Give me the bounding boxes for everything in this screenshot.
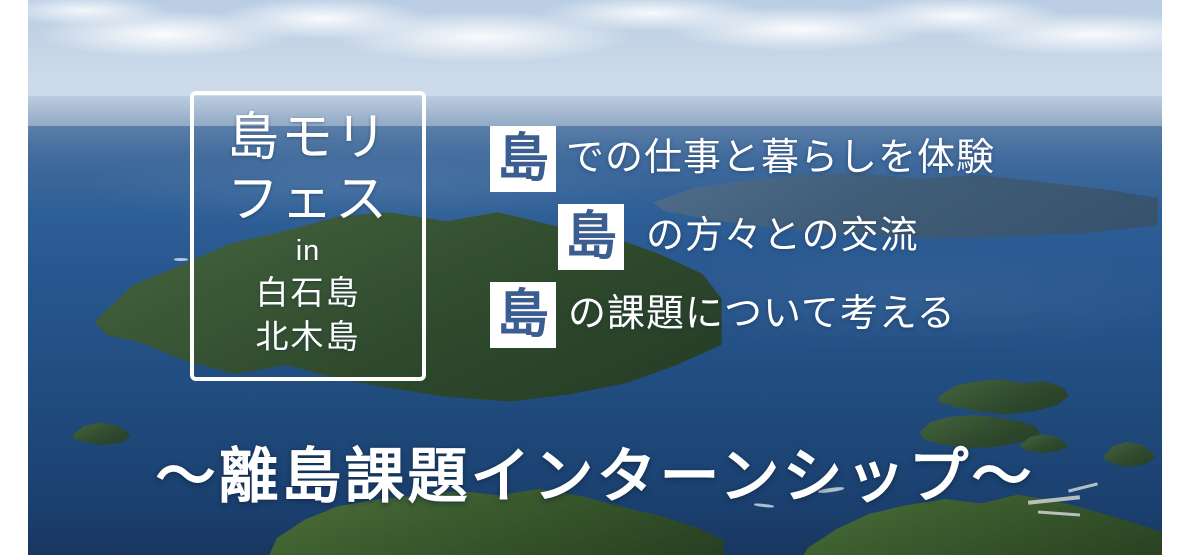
left-white-margin [0,0,28,555]
feature-bullet-2-text: の方々との交流 [646,216,919,258]
shima-kanji-chip: 島 [490,282,556,348]
feature-bullet-3: 島 の課題について考える [490,282,1010,348]
feature-bullet-list: 島 での仕事と暮らしを体験 島 の方々との交流 島 の課題について考える [490,126,1010,360]
poster-canvas: 島モリ フェス in 白石島 北木島 島 での仕事と暮らしを体験 島 の方々との… [0,0,1190,555]
feature-bullet-2: 島 の方々との交流 [490,204,1010,270]
event-title-in: in [296,231,321,271]
feature-bullet-3-text: の課題について考える [568,294,956,336]
right-white-margin [1162,0,1190,555]
feature-bullet-1-text: での仕事と暮らしを体験 [566,138,995,180]
feature-bullet-1: 島 での仕事と暮らしを体験 [490,126,1010,192]
event-title-line-1: 島モリ [227,107,389,169]
boat [174,258,188,261]
shima-kanji-chip: 島 [490,126,556,192]
program-headline: 〜離島課題インターンシップ〜 [0,428,1190,515]
event-location-1: 白石島 [256,271,361,315]
event-title-line-2: フェス [227,169,389,231]
event-location-2: 北木島 [256,315,361,359]
event-title-box: 島モリ フェス in 白石島 北木島 [190,91,426,381]
shima-kanji-chip: 島 [558,204,624,270]
